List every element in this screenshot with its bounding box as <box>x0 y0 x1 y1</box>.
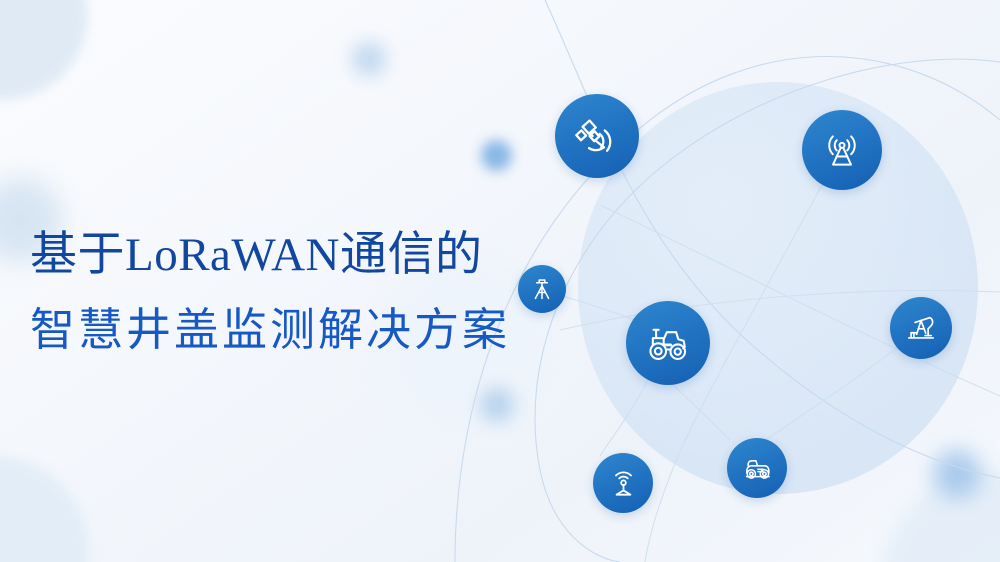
icon-node-oil-pump <box>890 297 952 359</box>
oil-pumpjack-icon <box>902 309 940 347</box>
signal-beacon-icon <box>605 465 642 502</box>
presentation-cover-slide: 基于LoRaWAN通信的 智慧井盖监测解决方案 <box>0 0 1000 562</box>
decorative-blob-bottom-left <box>0 455 90 562</box>
tractor-icon <box>642 317 694 369</box>
robotic-rover-icon <box>739 450 776 487</box>
icon-node-satellite <box>555 94 639 178</box>
decorative-blob-bottom-right <box>880 470 1000 562</box>
radio-tower-icon <box>817 125 867 175</box>
survey-tripod-icon <box>527 274 557 304</box>
decorative-dot-mid <box>481 140 512 171</box>
icon-node-rover <box>727 438 787 498</box>
icon-node-tripod <box>518 265 566 313</box>
title-line-1: 基于LoRaWAN通信的 <box>30 228 570 283</box>
decorative-dot-upper <box>352 42 386 76</box>
slide-title-block: 基于LoRaWAN通信的 智慧井盖监测解决方案 <box>30 228 570 357</box>
icon-node-tractor <box>626 301 710 385</box>
decorative-dot-lower <box>480 388 514 422</box>
icon-node-signal-beacon <box>593 453 653 513</box>
icon-node-radio-tower <box>802 110 882 190</box>
satellite-signal-icon <box>571 110 623 162</box>
decorative-dot-bottom-right <box>933 450 981 498</box>
title-line-2: 智慧井盖监测解决方案 <box>30 303 570 356</box>
decorative-blob-top-left <box>0 0 88 100</box>
